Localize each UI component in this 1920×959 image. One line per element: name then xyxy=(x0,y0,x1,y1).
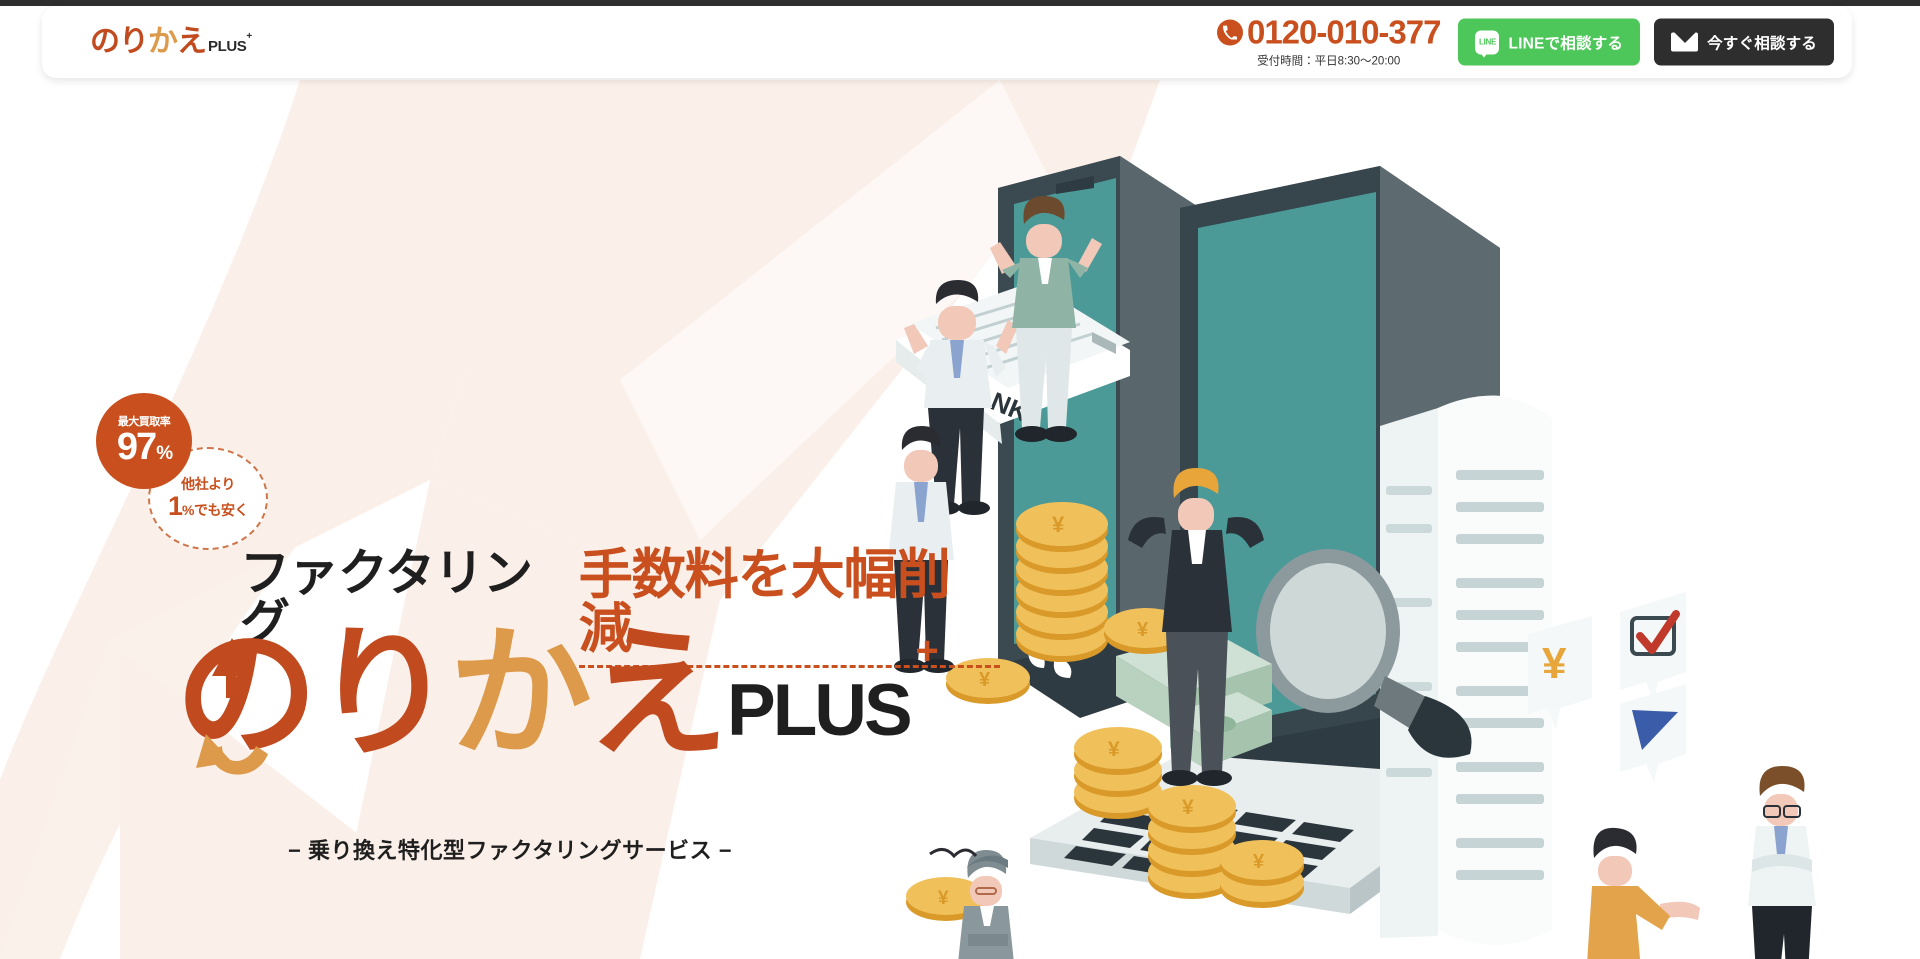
phone-number: 0120-010-377 xyxy=(1247,16,1441,49)
phone-block: 0120-010-377 受付時間：平日8:30〜20:00 xyxy=(1217,16,1441,69)
hero-logo-plus-text: PLUS xyxy=(727,670,910,751)
svg-text:¥: ¥ xyxy=(1137,619,1149,641)
badge-max-rate-value: 97% xyxy=(117,430,171,464)
person-orange-sweater xyxy=(1586,828,1700,959)
header-logo[interactable]: のりかえ PLUS+ xyxy=(90,27,252,57)
hero-logo-jp-3: か xyxy=(449,615,586,774)
check-bubble-icon xyxy=(1620,592,1686,702)
svg-text:¥: ¥ xyxy=(1253,851,1265,873)
badge-cheaper-value: 1%でも安く xyxy=(168,493,248,520)
hero-tagline: − 乗り換え特化型ファクタリングサービス − xyxy=(288,833,732,865)
person-glasses-right xyxy=(1748,766,1816,959)
line-consult-button[interactable]: LINE LINEで相談する xyxy=(1458,19,1640,66)
badge-cheaper-number: 1 xyxy=(168,493,182,520)
phone-row[interactable]: 0120-010-377 xyxy=(1217,16,1441,49)
page-root: のりかえ PLUS+ 0120-010-377 受付時間：平日8:30〜20:0… xyxy=(0,0,1920,959)
phone-icon xyxy=(1217,19,1243,45)
hero-logo-jp: のりかえ xyxy=(175,623,723,766)
mail-consult-label: 今すぐ相談する xyxy=(1707,31,1817,53)
badge-cheaper-caption: 他社より xyxy=(181,477,235,492)
hero-logo: のりかえ PLUS+ xyxy=(175,623,910,766)
header-logo-jp-1: のり xyxy=(90,25,148,58)
header-logo-plus-sup: + xyxy=(246,31,251,42)
site-header: のりかえ PLUS+ 0120-010-377 受付時間：平日8:30〜20:0… xyxy=(42,6,1852,78)
svg-text:¥: ¥ xyxy=(1182,796,1194,819)
mail-icon xyxy=(1671,33,1698,52)
header-logo-plus: PLUS+ xyxy=(208,37,252,55)
mail-consult-button[interactable]: 今すぐ相談する xyxy=(1654,19,1834,66)
line-icon: LINE xyxy=(1475,30,1499,54)
badge-max-rate-number: 97 xyxy=(117,430,155,464)
hero-logo-jp-2: り xyxy=(312,615,449,774)
hero-logo-plus-sup: + xyxy=(915,629,935,674)
header-logo-plus-text: PLUS xyxy=(208,38,246,55)
hero-left: 他社より 1%でも安く 最大買取率 97% ファクタリング 手数料を大幅削減 の… xyxy=(0,78,1000,959)
header-logo-jp-3: え xyxy=(177,25,206,58)
badge-max-rate-unit: % xyxy=(156,445,171,462)
header-actions: 0120-010-377 受付時間：平日8:30〜20:00 LINE LINE… xyxy=(1217,16,1834,69)
badge-cheaper-unit: %でも安く xyxy=(182,503,248,517)
hero-badges: 他社より 1%でも安く 最大買取率 97% xyxy=(96,393,306,553)
svg-text:¥: ¥ xyxy=(1052,512,1065,537)
header-logo-jp-2: か xyxy=(148,25,177,58)
svg-text:¥: ¥ xyxy=(1542,639,1567,688)
hero-logo-plus: PLUS+ xyxy=(727,669,910,752)
send-bubble-icon xyxy=(1620,684,1686,782)
hero-logo-jp-1: の xyxy=(175,615,312,774)
svg-text:¥: ¥ xyxy=(1108,738,1120,761)
badge-max-rate: 最大買取率 97% xyxy=(96,393,192,489)
hero-logo-jp-4: え xyxy=(586,615,723,774)
line-consult-label: LINEで相談する xyxy=(1508,31,1623,53)
header-logo-jp: のりかえ xyxy=(90,27,206,57)
hero-illustration: BANK xyxy=(880,78,1920,959)
phone-hours: 受付時間：平日8:30〜20:00 xyxy=(1257,53,1400,69)
